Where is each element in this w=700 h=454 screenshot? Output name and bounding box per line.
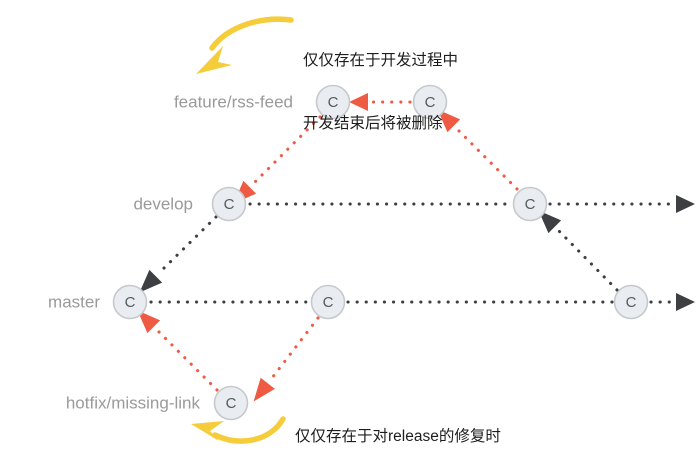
connection-develop-to-master	[160, 217, 216, 272]
callout-arrow-feature	[196, 19, 291, 74]
feature-callout-curve	[212, 19, 291, 48]
hotfix-callout-curve	[215, 419, 283, 441]
commit-label: C	[125, 294, 136, 311]
branch-label-feature: feature/rss-feed	[174, 92, 293, 111]
annotation-hotfix-line-1: 仅仅存在于对release的修复时	[295, 426, 544, 447]
connection-develop2-to-feature2	[457, 129, 517, 189]
connection-hotfix-to-master	[157, 330, 217, 390]
dark-merge-lines	[133, 204, 617, 299]
commit-label: C	[224, 196, 235, 213]
annotation-feature-line-1: 仅仅存在于开发过程中	[303, 50, 458, 71]
arrowhead-master2-to-hotfix	[247, 378, 275, 407]
annotation-hotfix-note: 仅仅存在于对release的修复时 修复结束后将被删除并整合到master	[295, 384, 544, 454]
commit-node-develop-2[interactable]: C	[514, 188, 547, 221]
commit-label: C	[525, 196, 536, 213]
connection-master-to-develop	[558, 230, 617, 290]
commit-node-master-1[interactable]: C	[114, 286, 147, 319]
annotation-feature-line-2: 开发结束后将被删除	[303, 113, 458, 134]
commit-label: C	[626, 294, 637, 311]
arrowhead-master-end	[676, 293, 695, 311]
commit-node-master-2[interactable]: C	[312, 286, 345, 319]
branch-label-master: master	[48, 292, 100, 311]
commit-label: C	[226, 395, 237, 412]
callout-arrow-hotfix	[191, 419, 283, 441]
arrowhead-develop-end	[676, 195, 695, 213]
commit-node-hotfix-1[interactable]: C	[215, 387, 248, 420]
branch-label-hotfix: hotfix/missing-link	[66, 393, 201, 412]
connection-master2-to-hotfix	[272, 318, 318, 378]
branch-labels: feature/rss-feed develop master hotfix/m…	[48, 92, 293, 412]
feature-callout-arrowhead	[196, 46, 232, 74]
commit-node-develop-1[interactable]: C	[213, 188, 246, 221]
commit-node-master-3[interactable]: C	[615, 286, 648, 319]
annotation-feature-note: 仅仅存在于开发过程中 开发结束后将被删除	[303, 8, 458, 176]
branch-label-develop: develop	[133, 194, 193, 213]
commit-label: C	[323, 294, 334, 311]
diagram-canvas: feature/rss-feed develop master hotfix/m…	[0, 0, 700, 454]
